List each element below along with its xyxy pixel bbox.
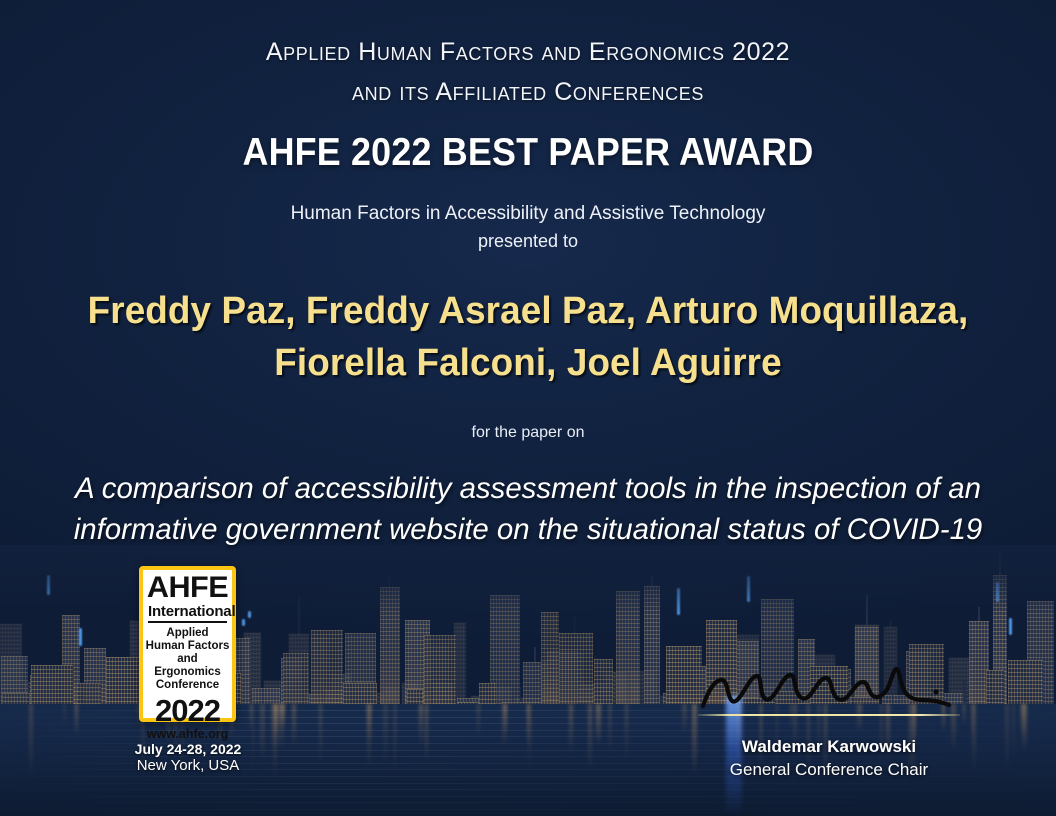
event-dates: July 24-28, 2022 xyxy=(109,741,267,757)
for-the-paper-on-label: for the paper on xyxy=(0,424,1056,442)
logo-descriptor: AppliedHuman Factorsand ErgonomicsConfer… xyxy=(143,626,232,694)
logo-international: International xyxy=(148,603,227,623)
signature-rule xyxy=(698,714,960,716)
logo-ahfe-wordmark: AHFE xyxy=(142,573,233,603)
signer-name: Waldemar Karwowski xyxy=(688,737,970,757)
conference-name-line-1: Applied Human Factors and Ergonomics 202… xyxy=(0,38,1056,67)
recipient-names: Freddy Paz, Freddy Asrael Paz, Arturo Mo… xyxy=(45,285,1011,389)
logo-year: 2022 xyxy=(143,695,232,727)
signer-role: General Conference Chair xyxy=(688,760,970,780)
paper-title: A comparison of accessibility assessment… xyxy=(32,468,1024,550)
presented-to-label: presented to xyxy=(0,231,1056,252)
logo-website-url: www.ahfe.org xyxy=(143,727,232,741)
event-location: New York, USA xyxy=(109,757,267,774)
signature-block: Waldemar Karwowski General Conference Ch… xyxy=(688,664,970,780)
conference-name-line-2: and its Affiliated Conferences xyxy=(0,78,1056,107)
handwritten-signature-icon xyxy=(688,664,970,712)
award-track-name: Human Factors in Accessibility and Assis… xyxy=(0,203,1056,225)
award-certificate: Applied Human Factors and Ergonomics 202… xyxy=(0,0,1056,816)
ahfe-logo-badge: AHFE International AppliedHuman Factorsa… xyxy=(139,566,236,722)
award-title: AHFE 2022 BEST PAPER AWARD xyxy=(42,131,1014,175)
